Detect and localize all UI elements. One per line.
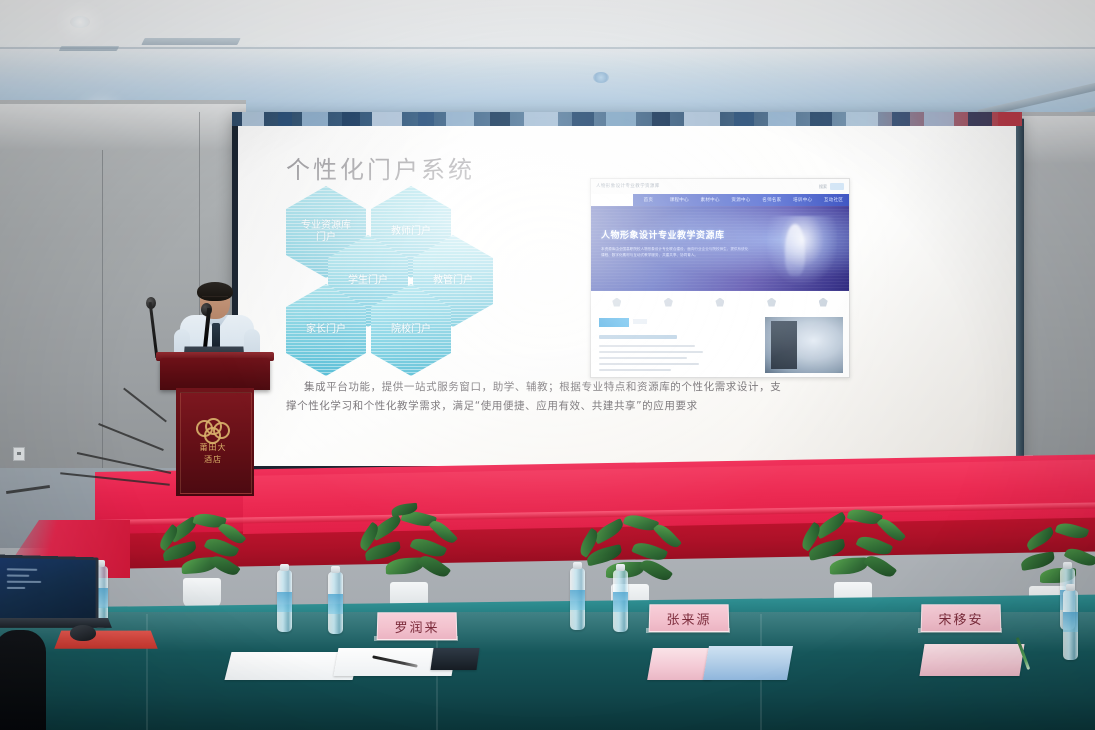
- hero-subtitle: 本资源库由全国高职院校人物形象设计专业联合建设，面向行业企业与院校师生，提供系统…: [601, 246, 751, 258]
- podium-upper: [160, 358, 270, 390]
- name-card-text: 张来源: [666, 609, 711, 628]
- hexagon-label: 学生门户: [342, 275, 394, 287]
- hero-title: 人物形象设计专业教学资源库: [601, 228, 725, 241]
- bottle-label: [570, 590, 585, 610]
- category-icon-5[interactable]: [819, 298, 828, 307]
- hexagon-label: 教师门户: [385, 226, 437, 238]
- ceiling-seam: [0, 47, 1095, 49]
- laptop-keyboard[interactable]: [0, 618, 112, 628]
- hexagon-label: 专业资源库门户: [300, 220, 352, 244]
- ceiling-vent-2: [59, 46, 119, 51]
- website-nav-item-2[interactable]: 素材中心: [695, 197, 726, 203]
- website-topbar: 人物形象设计专业教学资源库 搜索: [591, 179, 849, 195]
- category-icon-4[interactable]: [767, 298, 776, 307]
- ceiling-light-1: [70, 16, 90, 28]
- content-tag-secondary: [633, 319, 647, 324]
- paper-sheet-3: [430, 648, 479, 670]
- bottle-cap: [1066, 584, 1075, 591]
- laptop: [0, 556, 106, 634]
- website-screenshot: 人物形象设计专业教学资源库 搜索 首页 课程中心 素材中心 资源中心 名师名家 …: [590, 178, 850, 378]
- laptop-screen[interactable]: [0, 554, 98, 625]
- hotel-knot-logo-icon: [196, 418, 230, 442]
- water-bottle-5: [613, 570, 628, 632]
- bottle-label: [277, 592, 292, 612]
- ceiling-vent-1: [141, 38, 240, 45]
- name-card-3: 宋移安: [921, 604, 1002, 632]
- ceiling-light-3: [593, 72, 609, 83]
- website-topbar-right: 搜索: [819, 183, 844, 190]
- website-nav-item-4[interactable]: 名师名家: [756, 197, 787, 203]
- potted-plant-2: [356, 502, 462, 612]
- content-heading-placeholder: [599, 335, 677, 339]
- name-card-text: 罗润来: [394, 617, 439, 636]
- speaker-tie: [212, 323, 220, 349]
- hexagon-diagram: 专业资源库门户 教师门户 学生门户 教管门户 家长门户 院校门户: [278, 186, 528, 366]
- bottle-cap: [280, 564, 289, 571]
- content-tag-badge: [599, 318, 629, 327]
- seated-person-silhouette: [0, 630, 46, 730]
- website-nav-item-6[interactable]: 互动社区: [818, 197, 849, 203]
- website-search-hint: 搜索: [819, 184, 827, 190]
- content-portrait-image: [765, 317, 843, 373]
- water-bottle-3: [328, 572, 343, 634]
- potted-plant-1: [152, 500, 252, 608]
- bottle-cap: [331, 566, 340, 573]
- podium-hotel-name: 莆田大酒店: [196, 442, 230, 466]
- wall-socket-left: [13, 447, 25, 461]
- hero-figure-image: [767, 216, 837, 284]
- category-icon-3[interactable]: [715, 298, 724, 307]
- category-icon-1[interactable]: [612, 298, 621, 307]
- plant-pot: [183, 578, 221, 608]
- bottle-label: [613, 592, 628, 612]
- slide-note-line-1: 集成平台功能，提供一站式服务窗口，助学、辅教；根据专业特点和资源库的个性化需求设…: [304, 381, 781, 393]
- website-nav-item-1[interactable]: 课程中心: [664, 197, 695, 203]
- booklet-pink-2: [919, 644, 1024, 676]
- bottle-label: [328, 594, 343, 614]
- slide-body-text: 集成平台功能，提供一站式服务窗口，助学、辅教；根据专业特点和资源库的个性化需求设…: [286, 378, 886, 416]
- slide-title: 个性化门户系统: [286, 150, 475, 185]
- bottle-cap: [573, 562, 582, 569]
- name-card-text: 宋移安: [938, 609, 983, 628]
- website-icon-row: [591, 291, 849, 314]
- booklet-blue-1: [703, 646, 793, 680]
- website-login-button[interactable]: [830, 183, 844, 190]
- website-nav-item-5[interactable]: 培训中心: [787, 197, 818, 203]
- bottle-label: [1063, 612, 1078, 632]
- website-nav-item-3[interactable]: 资源中心: [726, 197, 757, 203]
- hexagon-label: 院校门户: [385, 324, 437, 336]
- name-card-2: 张来源: [649, 604, 730, 632]
- water-bottle-7: [1063, 590, 1078, 660]
- slide-note-line-2: 撑个性化学习和个性化教学需求，满足“使用便捷、应用有效、共建共享”的应用要求: [286, 400, 698, 412]
- wall-left-seam-1: [102, 150, 103, 480]
- wall-left-light-glow: [0, 104, 246, 150]
- conference-room-photo: 个性化门户系统 专业资源库门户 教师门户 学生门户 教管门户 家长门户 院校门户: [0, 0, 1095, 730]
- website-nav-home[interactable]: [591, 194, 633, 206]
- speaker-glasses: [202, 296, 228, 303]
- water-bottle-4: [570, 568, 585, 630]
- website-hero-banner: 人物形象设计专业教学资源库 本资源库由全国高职院校人物形象设计专业联合建设，面向…: [591, 206, 849, 291]
- projection-screen-surface: 个性化门户系统 专业资源库门户 教师门户 学生门户 教管门户 家长门户 院校门户: [238, 126, 1016, 466]
- potted-plant-3: [578, 504, 682, 614]
- website-nav-item-0[interactable]: 首页: [633, 197, 664, 203]
- website-logo-text: 人物形象设计专业教学资源库: [596, 183, 660, 189]
- projection-screen-top-trim: [232, 112, 1022, 126]
- bottle-cap: [616, 564, 625, 571]
- website-content-area: [591, 313, 849, 377]
- website-nav: 首页 课程中心 素材中心 资源中心 名师名家 培训中心 互动社区: [591, 194, 849, 206]
- name-card-1: 罗润来: [377, 612, 458, 640]
- category-icon-2[interactable]: [664, 298, 673, 307]
- hexagon-label: 家长门户: [300, 324, 352, 336]
- water-bottle-2: [277, 570, 292, 632]
- potted-plant-4: [800, 500, 906, 612]
- computer-mouse[interactable]: [70, 625, 96, 641]
- bottle-cap: [1063, 562, 1072, 569]
- hexagon-label: 教管门户: [427, 275, 479, 287]
